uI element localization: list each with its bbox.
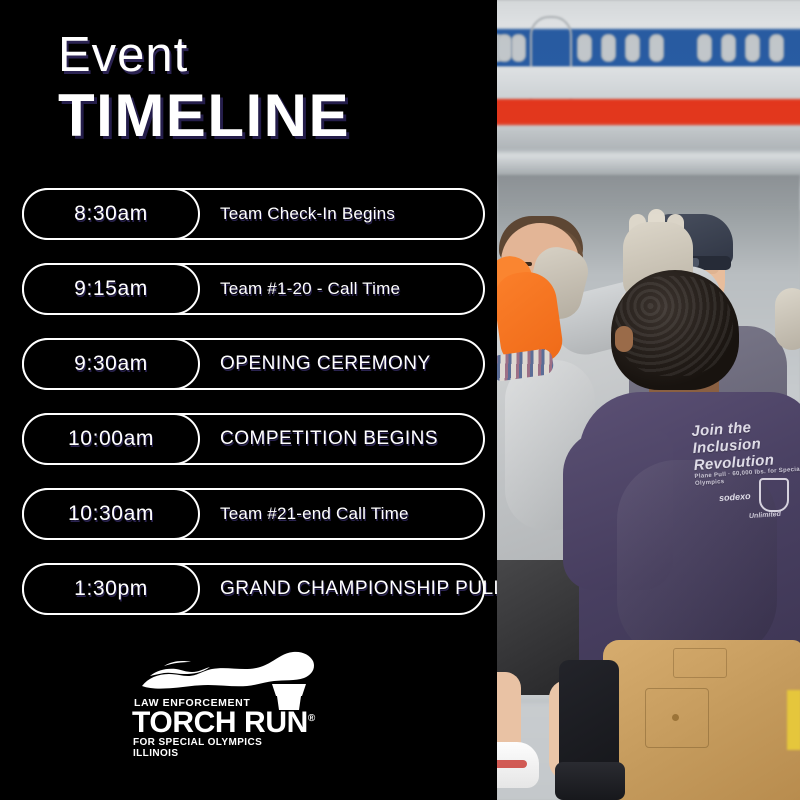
timeline-label: OPENING CEREMONY — [220, 353, 431, 375]
event-timeline-poster: Join the Inclusion Revolution Plane Pull… — [0, 0, 800, 800]
timeline-row[interactable]: 10:00am COMPETITION BEGINS — [22, 413, 485, 465]
timeline-row[interactable]: 1:30pm GRAND CHAMPIONSHIP PULLS — [22, 563, 485, 615]
timeline-panel: Event TIMELINE 8:30am Team Check-In Begi… — [0, 0, 497, 800]
timeline-time-pill[interactable]: 9:30am — [22, 338, 200, 390]
timeline-time: 9:30am — [74, 352, 148, 376]
logo-line-2: TORCH RUN® — [124, 709, 324, 737]
event-photo: Join the Inclusion Revolution Plane Pull… — [497, 0, 800, 800]
timeline-time-pill[interactable]: 8:30am — [22, 188, 200, 240]
timeline-row[interactable]: 8:30am Team Check-In Begins — [22, 188, 485, 240]
timeline-time-pill[interactable]: 10:30am — [22, 488, 200, 540]
photo-vignette — [497, 0, 800, 800]
timeline-label: GRAND CHAMPIONSHIP PULLS — [220, 578, 497, 600]
timeline-label: Team #21-end Call Time — [220, 504, 409, 524]
logo-wordmark: LAW ENFORCEMENT TORCH RUN® FOR SPECIAL O… — [124, 698, 324, 760]
page-title: Event TIMELINE — [58, 30, 350, 147]
timeline-time: 10:00am — [68, 427, 154, 451]
timeline-row[interactable]: 9:30am OPENING CEREMONY — [22, 338, 485, 390]
timeline-time-pill[interactable]: 1:30pm — [22, 563, 200, 615]
page-title-line-2: TIMELINE — [58, 84, 350, 147]
timeline-rows: 8:30am Team Check-In Begins 9:15am Team … — [22, 188, 497, 638]
logo-line-4: ILLINOIS — [124, 748, 324, 760]
timeline-time: 9:15am — [74, 277, 148, 301]
torch-run-logo: LAW ENFORCEMENT TORCH RUN® FOR SPECIAL O… — [124, 650, 324, 775]
timeline-row[interactable]: 9:15am Team #1-20 - Call Time — [22, 263, 485, 315]
timeline-time: 1:30pm — [74, 577, 148, 601]
timeline-label: Team #1-20 - Call Time — [220, 279, 400, 299]
timeline-row[interactable]: 10:30am Team #21-end Call Time — [22, 488, 485, 540]
logo-torch-run-text: TORCH RUN — [132, 706, 308, 739]
logo-trademark: ® — [308, 713, 315, 724]
timeline-label: Team Check-In Begins — [220, 204, 395, 224]
timeline-time-pill[interactable]: 10:00am — [22, 413, 200, 465]
timeline-time: 8:30am — [74, 202, 148, 226]
timeline-label: COMPETITION BEGINS — [220, 428, 438, 450]
timeline-time-pill[interactable]: 9:15am — [22, 263, 200, 315]
timeline-time: 10:30am — [68, 502, 154, 526]
page-title-line-1: Event — [58, 30, 350, 82]
